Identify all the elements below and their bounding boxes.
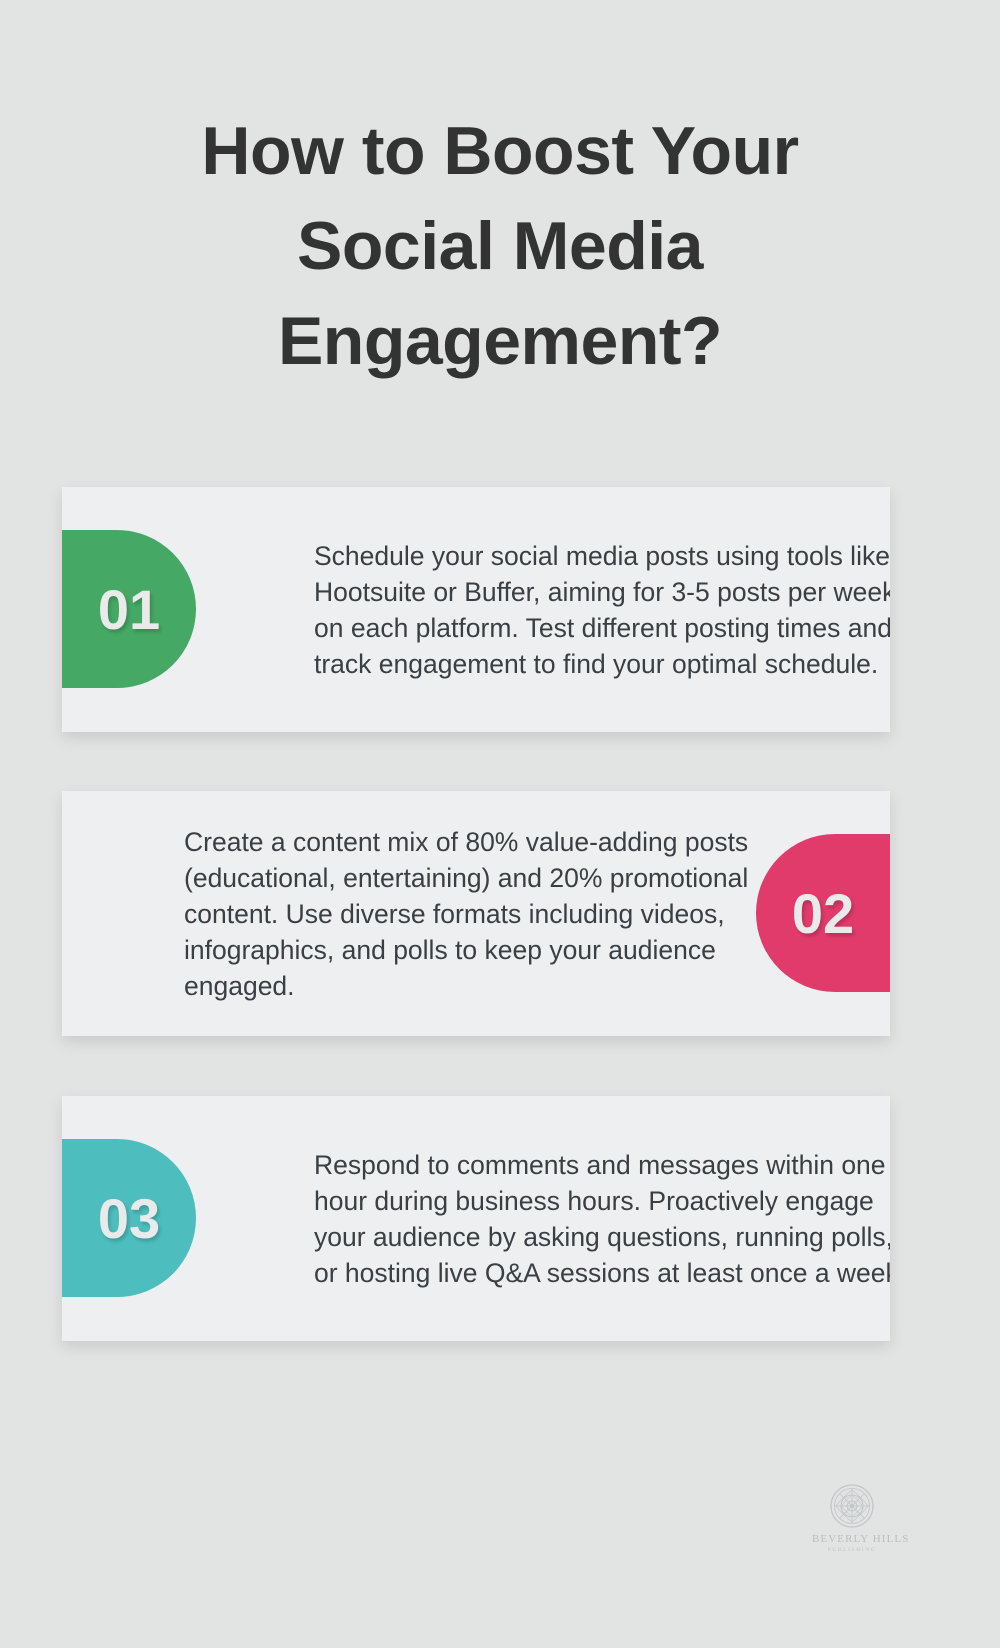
page-title-line-2: Social Media: [100, 199, 900, 294]
infographic-page: How to Boost Your Social Media Engagemen…: [0, 0, 1000, 1648]
step-number-badge-03: 03: [62, 1139, 196, 1297]
step-description-03: Respond to comments and messages within …: [314, 1147, 890, 1291]
medallion-ornament-icon: [830, 1484, 874, 1528]
step-number-label-02: 02: [792, 881, 854, 946]
brand-subtitle: PUBLISHING: [812, 1547, 892, 1553]
brand-name: BEVERLY HILLS: [812, 1533, 892, 1545]
step-number-badge-01: 01: [62, 530, 196, 688]
step-card-03: 03 Respond to comments and messages with…: [62, 1096, 890, 1341]
step-description-01: Schedule your social media posts using t…: [314, 538, 890, 682]
step-description-02: Create a content mix of 80% value-adding…: [184, 824, 784, 1004]
step-card-02: 02 Create a content mix of 80% value-add…: [62, 791, 890, 1036]
page-title-line-1: How to Boost Your: [100, 104, 900, 199]
page-title: How to Boost Your Social Media Engagemen…: [100, 104, 900, 389]
step-number-label-03: 03: [98, 1186, 160, 1251]
step-card-01: 01 Schedule your social media posts usin…: [62, 487, 890, 732]
step-number-label-01: 01: [98, 577, 160, 642]
brand-watermark: BEVERLY HILLS PUBLISHING: [812, 1484, 892, 1553]
page-title-line-3: Engagement?: [100, 294, 900, 389]
